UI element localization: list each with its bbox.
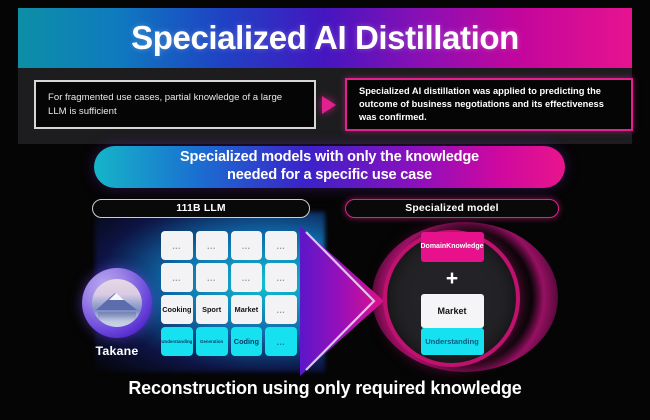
knowledge-grid: … … … … … … … … Cooking Sport Market … U… bbox=[161, 231, 297, 356]
grid-tile-market: Market bbox=[231, 295, 263, 324]
bottom-caption: Reconstruction using only required knowl… bbox=[0, 378, 650, 399]
slide-canvas: Specialized AI Distillation For fragment… bbox=[0, 0, 650, 420]
page-title: Specialized AI Distillation bbox=[18, 19, 632, 57]
mountain-reflection bbox=[98, 312, 136, 321]
grid-tile: … bbox=[265, 263, 297, 292]
grid-tile: … bbox=[196, 231, 228, 260]
headline-pill: Specialized models with only the knowled… bbox=[94, 146, 565, 188]
mountain-sphere-icon bbox=[82, 268, 152, 338]
domain-knowledge-line-1: Domain bbox=[421, 243, 447, 251]
arrow-right-large-icon bbox=[300, 226, 384, 376]
callout-right: Specialized AI distillation was applied … bbox=[345, 78, 633, 131]
callout-left-text: For fragmented use cases, partial knowle… bbox=[48, 91, 302, 119]
spec-tile-understanding: Understanding bbox=[421, 328, 484, 355]
title-banner: Specialized AI Distillation bbox=[18, 8, 632, 68]
label-111b-llm-text: 111B LLM bbox=[176, 203, 226, 214]
grid-tile: … bbox=[161, 263, 193, 292]
takane-label: Takane bbox=[78, 344, 156, 358]
grid-tile: … bbox=[196, 263, 228, 292]
grid-tile-coding: Coding bbox=[231, 327, 263, 356]
label-specialized-model-text: Specialized model bbox=[405, 203, 498, 214]
headline-pill-text: Specialized models with only the knowled… bbox=[180, 149, 479, 185]
spec-tile-market: Market bbox=[421, 294, 484, 328]
mountain-snow-cap bbox=[109, 293, 124, 300]
grid-tile: … bbox=[265, 295, 297, 324]
triangle-right-icon bbox=[322, 96, 336, 114]
mountain-photo bbox=[92, 279, 142, 327]
grid-tile: … bbox=[265, 231, 297, 260]
specialized-model-stack: Domain Knowledge + Market Understanding bbox=[415, 232, 489, 355]
grid-tile-generation: Generation bbox=[196, 327, 228, 356]
grid-tile-cooking: Cooking bbox=[161, 295, 193, 324]
grid-tile: … bbox=[265, 327, 297, 356]
plus-icon: + bbox=[446, 268, 458, 289]
callout-left: For fragmented use cases, partial knowle… bbox=[34, 80, 316, 129]
label-specialized-model: Specialized model bbox=[345, 199, 559, 218]
grid-tile-understanding: Understanding bbox=[161, 327, 193, 356]
grid-tile: … bbox=[231, 263, 263, 292]
grid-tile: … bbox=[161, 231, 193, 260]
takane-model: Takane bbox=[78, 268, 156, 363]
domain-knowledge-line-2: Knowledge bbox=[446, 243, 483, 251]
callout-right-text: Specialized AI distillation was applied … bbox=[359, 85, 619, 125]
label-111b-llm: 111B LLM bbox=[92, 199, 310, 218]
grid-tile-sport: Sport bbox=[196, 295, 228, 324]
grid-tile: … bbox=[231, 231, 263, 260]
headline-line-1: Specialized models with only the knowled… bbox=[180, 149, 479, 165]
spec-tile-domain-knowledge: Domain Knowledge bbox=[421, 232, 484, 262]
headline-line-2: needed for a specific use case bbox=[227, 167, 432, 183]
